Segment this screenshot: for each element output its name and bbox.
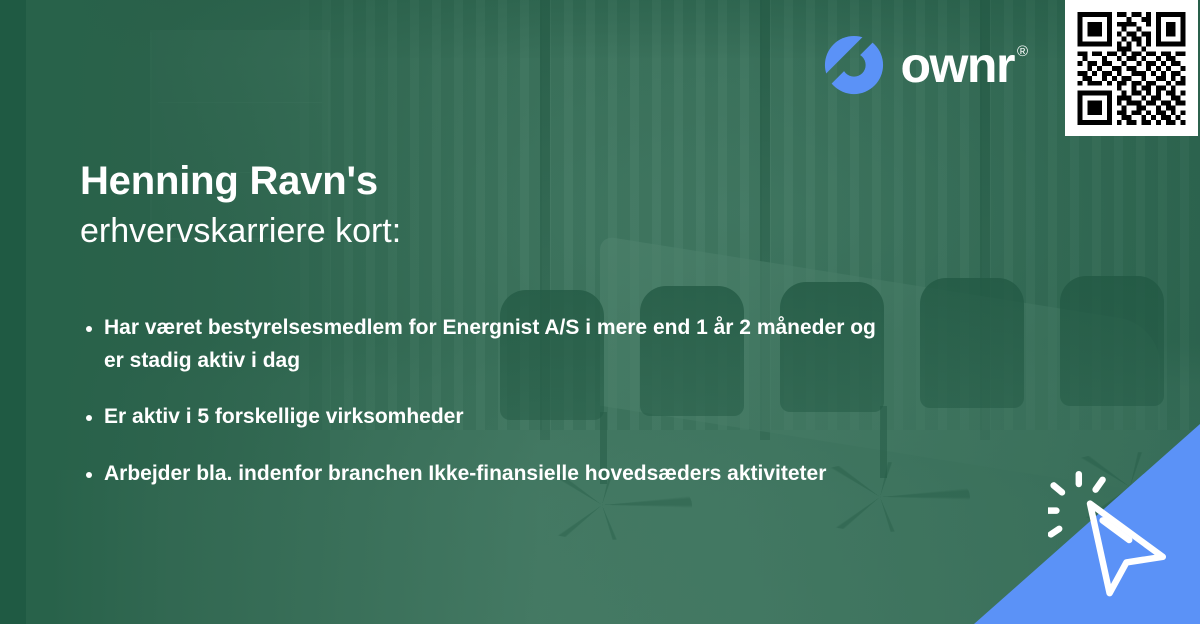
career-fact-text: Arbejder bla. indenfor branchen Ikke-fin… <box>104 462 826 485</box>
career-fact-text: Er aktiv i 5 forskellige virksomheder <box>104 405 464 428</box>
card-content: ownr ® Henning Ravn's erhvervskarriere k… <box>0 0 1200 624</box>
career-fact-item: Har været bestyrelsesmedlem for Energnis… <box>80 312 880 377</box>
career-fact-text: Har været bestyrelsesmedlem for Energnis… <box>104 316 876 372</box>
page-title-line-2: erhvervskarriere kort: <box>80 211 700 252</box>
career-card: ownr ® Henning Ravn's erhvervskarriere k… <box>0 0 1200 624</box>
bullet-dot-icon <box>86 415 92 421</box>
page-title-line-1: Henning Ravn's <box>80 158 700 205</box>
bullet-dot-icon <box>86 472 92 478</box>
career-fact-list: Har været bestyrelsesmedlem for Energnis… <box>80 312 960 490</box>
ownr-wordmark-text: ownr <box>901 40 1014 90</box>
ownr-logo[interactable]: ownr ® <box>823 34 1029 96</box>
page-title: Henning Ravn's erhvervskarriere kort: <box>80 158 700 252</box>
registered-trademark-symbol: ® <box>1017 44 1028 59</box>
bullet-dot-icon <box>86 326 92 332</box>
click-cursor-icon <box>1048 470 1188 610</box>
career-fact-item: Arbejder bla. indenfor branchen Ikke-fin… <box>80 458 880 491</box>
ownr-circle-mark-icon <box>823 34 885 96</box>
qr-code-panel[interactable] <box>1065 0 1198 136</box>
ownr-wordmark: ownr ® <box>901 40 1029 90</box>
career-fact-item: Er aktiv i 5 forskellige virksomheder <box>80 401 880 434</box>
qr-code-image <box>1075 12 1188 125</box>
